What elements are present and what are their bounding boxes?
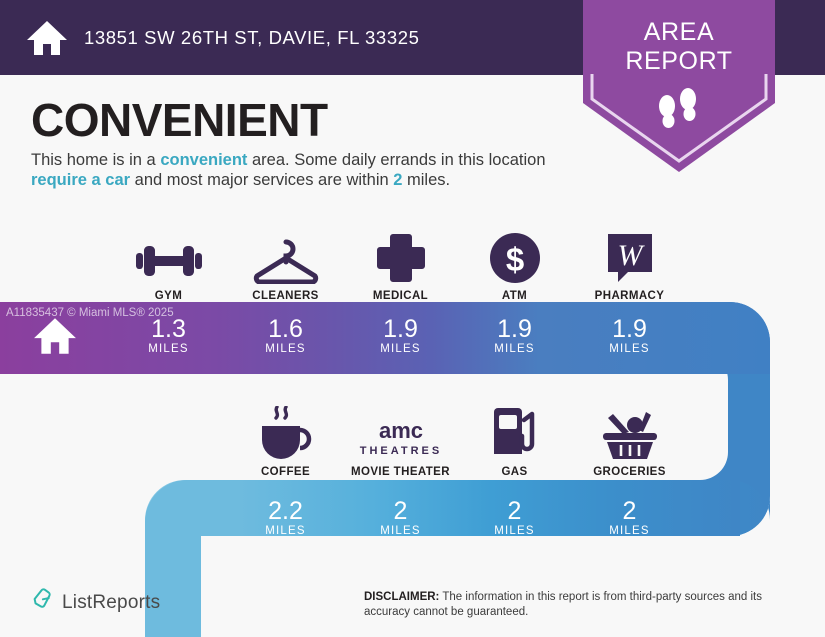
distance-unit: MILES	[148, 343, 189, 355]
distance-unit: MILES	[380, 343, 421, 355]
gas-pump-icon	[488, 402, 542, 460]
distance-value: 1.3	[151, 316, 186, 342]
distance-value: 1.9	[497, 316, 532, 342]
listreports-house-icon	[30, 588, 54, 617]
distance-value: 2	[623, 498, 637, 524]
amenity-icon-row-bottom: COFFEE amc THEATRES MOVIE THEATER GAS	[0, 392, 825, 478]
summary-highlight-1: convenient	[160, 151, 247, 169]
summary-text-3: and most major services are within	[130, 171, 393, 189]
distance-pharmacy: 1.9 MILES	[572, 304, 687, 366]
amenity-medical: MEDICAL	[343, 216, 458, 302]
amenity-atm: $ ATM	[457, 216, 572, 302]
summary-paragraph: This home is in a convenient area. Some …	[31, 150, 576, 190]
distance-value: 2	[508, 498, 522, 524]
amenity-label: GAS	[501, 466, 527, 478]
distance-medical: 1.9 MILES	[343, 304, 458, 366]
distance-unit: MILES	[380, 525, 421, 537]
amenity-label: ATM	[502, 290, 527, 302]
amenity-label: GROCERIES	[593, 466, 666, 478]
amenity-label: MEDICAL	[373, 290, 428, 302]
svg-text:W: W	[617, 239, 645, 272]
amenity-label: MOVIE THEATER	[351, 466, 450, 478]
summary-text-4: miles.	[402, 171, 450, 189]
distance-atm: 1.9 MILES	[457, 304, 572, 366]
area-report-page: 13851 SW 26TH ST, DAVIE, FL 33325 AREA R…	[0, 0, 825, 637]
distance-coffee: 2.2 MILES	[228, 486, 343, 548]
distance-unit: MILES	[494, 343, 535, 355]
home-marker-icon	[33, 316, 77, 361]
listreports-wordmark: ListReports	[62, 592, 160, 614]
amenity-gas: GAS	[457, 392, 572, 478]
distance-cleaners: 1.6 MILES	[228, 304, 343, 366]
footprints-icon	[583, 88, 775, 143]
distance-unit: MILES	[265, 343, 306, 355]
amenity-cleaners: CLEANERS	[228, 216, 343, 302]
disclaimer: DISCLAIMER: The information in this repo…	[364, 590, 794, 619]
badge-line-1: AREA	[583, 18, 775, 47]
mls-watermark: A11835437 © Miami MLS® 2025	[6, 307, 174, 319]
hanger-icon	[249, 226, 323, 284]
amenity-label: GYM	[155, 290, 182, 302]
property-address: 13851 SW 26TH ST, DAVIE, FL 33325	[84, 27, 419, 49]
svg-text:amc: amc	[378, 418, 422, 443]
amenity-groceries: GROCERIES	[572, 392, 687, 478]
page-title: CONVENIENT	[31, 95, 328, 145]
amenity-label: PHARMACY	[595, 290, 665, 302]
distance-value: 1.6	[268, 316, 303, 342]
distance-value: 2	[394, 498, 408, 524]
distance-value: 2.2	[268, 498, 303, 524]
distance-groceries: 2 MILES	[572, 486, 687, 548]
amenity-icon-row-top: GYM CLEANERS MEDICAL	[0, 216, 825, 302]
distance-value: 1.9	[612, 316, 647, 342]
svg-text:$: $	[505, 241, 523, 278]
amenity-movie-theater: amc THEATRES MOVIE THEATER	[343, 392, 458, 478]
amenity-label: CLEANERS	[252, 290, 318, 302]
distance-unit: MILES	[265, 525, 306, 537]
svg-text:THEATRES: THEATRES	[359, 445, 441, 457]
walgreens-w-icon: W	[606, 226, 654, 284]
amenity-gym: GYM	[111, 216, 226, 302]
summary-text-1: This home is in a	[31, 151, 160, 169]
distance-unit: MILES	[609, 525, 650, 537]
distance-row-bottom: 2.2 MILES 2 MILES 2 MILES 2 MILES	[0, 486, 825, 548]
medical-cross-icon	[375, 226, 427, 284]
home-icon	[26, 19, 68, 57]
grocery-basket-icon	[599, 402, 661, 460]
amenity-label: COFFEE	[261, 466, 310, 478]
area-report-badge: AREA REPORT	[583, 0, 775, 172]
disclaimer-label: DISCLAIMER:	[364, 591, 439, 603]
badge-line-2: REPORT	[583, 47, 775, 76]
amenity-coffee: COFFEE	[228, 392, 343, 478]
distance-unit: MILES	[494, 525, 535, 537]
coffee-cup-icon	[258, 402, 314, 460]
dollar-circle-icon: $	[489, 226, 541, 284]
distance-value: 1.9	[383, 316, 418, 342]
distance-unit: MILES	[609, 343, 650, 355]
distance-movie-theater: 2 MILES	[343, 486, 458, 548]
distance-gas: 2 MILES	[457, 486, 572, 548]
listreports-logo[interactable]: ListReports	[30, 588, 160, 617]
amenity-pharmacy: W PHARMACY	[572, 216, 687, 302]
dumbbell-icon	[134, 226, 204, 284]
summary-text-2: area. Some daily errands in this locatio…	[247, 151, 545, 169]
amc-theatres-icon: amc THEATRES	[353, 402, 449, 460]
summary-highlight-2: require a car	[31, 171, 130, 189]
badge-title: AREA REPORT	[583, 18, 775, 76]
